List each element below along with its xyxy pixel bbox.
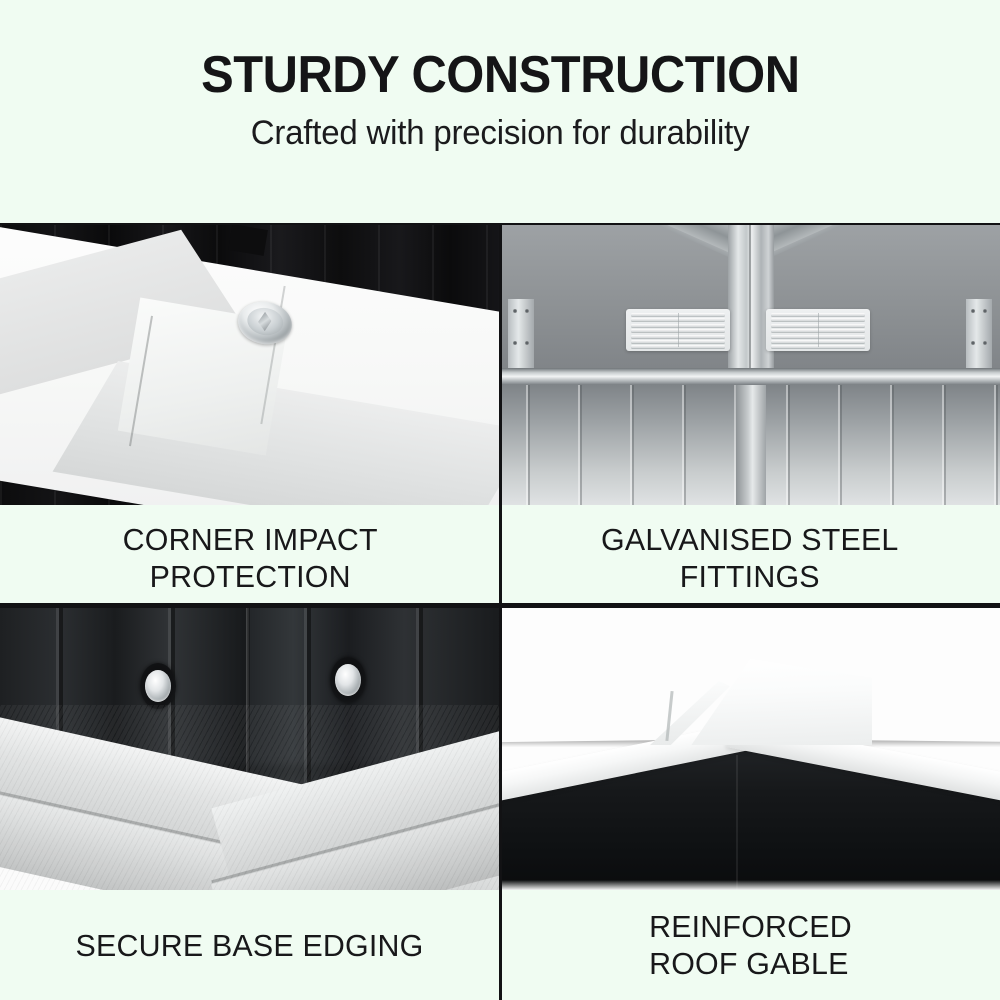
feature-cell-reinforced-roof-gable: REINFORCED ROOF GABLE: [500, 605, 1000, 1000]
photo-galvanised-steel-fittings: [500, 223, 1000, 505]
bracket-bolt: [983, 341, 987, 345]
caption-secure-base-edging: SECURE BASE EDGING: [0, 890, 500, 1000]
photo-corner-impact-protection: [0, 223, 500, 505]
caption-line-2: ROOF GABLE: [649, 946, 848, 981]
caption-text: SECURE BASE EDGING: [76, 927, 424, 964]
caption-line-2: PROTECTION: [149, 559, 350, 594]
wall-center-post: [736, 385, 766, 505]
vent-center-rib: [678, 313, 679, 347]
page-subtitle: Crafted with precision for durability: [251, 113, 750, 153]
feature-cell-galvanised-steel-fittings: GALVANISED STEEL FITTINGS: [500, 223, 1000, 610]
horizontal-purlin-beam: [500, 368, 1000, 385]
bracket-bolt: [513, 309, 517, 313]
caption-reinforced-roof-gable: REINFORCED ROOF GABLE: [500, 890, 1000, 1000]
photo-reinforced-roof-gable: [500, 605, 1000, 890]
bracket-bolt: [525, 341, 529, 345]
chrome-bolt-icon: [140, 663, 176, 709]
caption-galvanised-steel-fittings: GALVANISED STEEL FITTINGS: [500, 505, 1000, 610]
caption-text: CORNER IMPACT PROTECTION: [122, 521, 377, 595]
caption-corner-impact-protection: CORNER IMPACT PROTECTION: [0, 505, 500, 610]
ridge-column-seam: [749, 223, 751, 375]
caption-line-2: FITTINGS: [680, 559, 820, 594]
photo-secure-base-edging: [0, 605, 500, 890]
caption-text: GALVANISED STEEL FITTINGS: [601, 521, 898, 595]
feature-grid: CORNER IMPACT PROTECTION: [0, 223, 1000, 1000]
steel-bracket-left: [508, 299, 534, 369]
header: STURDY CONSTRUCTION Crafted with precisi…: [0, 0, 1000, 223]
bracket-bolt: [513, 341, 517, 345]
page-title: STURDY CONSTRUCTION: [201, 47, 799, 103]
bracket-bolt: [983, 309, 987, 313]
central-ridge-column: [728, 223, 774, 375]
photo-bottom-fade: [500, 880, 1000, 890]
feature-cell-corner-impact-protection: CORNER IMPACT PROTECTION: [0, 223, 500, 610]
feature-cell-secure-base-edging: SECURE BASE EDGING: [0, 605, 500, 1000]
steel-bracket-right: [966, 299, 992, 369]
feature-infographic: STURDY CONSTRUCTION Crafted with precisi…: [0, 0, 1000, 1000]
grid-top-edge: [0, 223, 1000, 225]
vent-center-rib: [818, 313, 819, 347]
caption-line-1: SECURE BASE EDGING: [76, 928, 424, 963]
grid-row2-top-edge: [0, 605, 1000, 608]
bracket-bolt: [971, 341, 975, 345]
chrome-bolt-icon: [330, 657, 366, 703]
bracket-bolt: [525, 309, 529, 313]
gable-panel-seam: [736, 755, 738, 890]
caption-text: REINFORCED ROOF GABLE: [649, 908, 852, 982]
grid-vertical-divider: [499, 223, 502, 1000]
caption-line-1: GALVANISED STEEL: [601, 522, 898, 557]
caption-line-1: CORNER IMPACT: [122, 522, 377, 557]
caption-line-1: REINFORCED: [649, 909, 852, 944]
bracket-bolt: [971, 309, 975, 313]
louvered-vent-left: [626, 309, 730, 351]
louvered-vent-right: [766, 309, 870, 351]
